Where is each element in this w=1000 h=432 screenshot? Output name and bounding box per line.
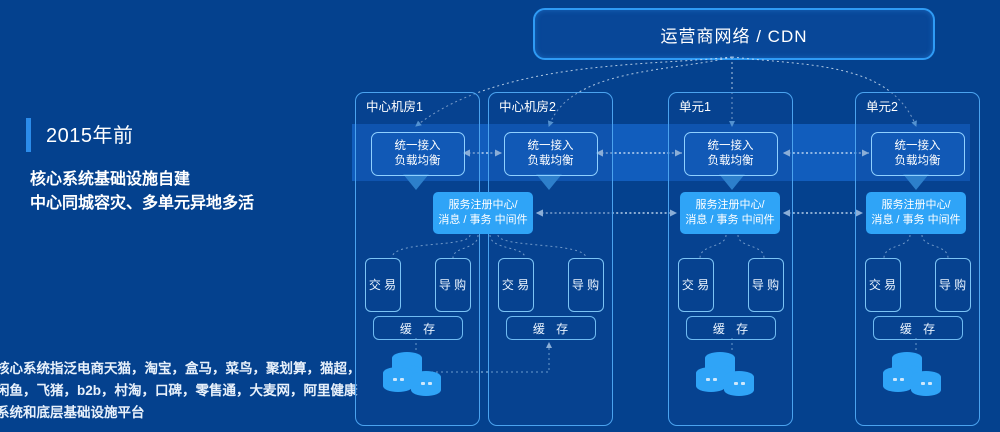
middleware-line-2: 消息 / 事务 中间件 <box>438 213 527 228</box>
lb-line-1: 统一接入 <box>708 139 754 154</box>
load-balancer-node-unit-1[interactable]: 统一接入负载均衡 <box>684 132 778 176</box>
app-node-center-idc-1-1[interactable]: 导 购 <box>435 258 471 312</box>
middleware-line-1: 服务注册中心/ <box>448 198 517 213</box>
headline-line-1: 核心系统基础设施自建 <box>30 168 254 192</box>
lb-line-1: 统一接入 <box>395 139 441 154</box>
middleware-line-2: 消息 / 事务 中间件 <box>871 213 960 228</box>
database-cluster-icon-center-idc-1 <box>381 348 453 398</box>
lb-line-2: 负载均衡 <box>708 154 754 169</box>
cdn-node[interactable]: 运营商网络 / CDN <box>533 8 935 60</box>
column-title-unit-2: 单元2 <box>866 96 898 115</box>
cache-node-center-idc-1[interactable]: 缓 存 <box>373 316 463 340</box>
middleware-line-2: 消息 / 事务 中间件 <box>685 213 774 228</box>
load-balancer-node-center-idc-1[interactable]: 统一接入负载均衡 <box>371 132 465 176</box>
diagram-canvas: 2015年前 核心系统基础设施自建 中心同城容灾、多单元异地多活 核心系统指泛电… <box>0 0 1000 432</box>
middleware-node-mw-unit-2[interactable]: 服务注册中心/消息 / 事务 中间件 <box>866 192 966 234</box>
column-title-center-idc-2: 中心机房2 <box>499 96 556 115</box>
lb-line-1: 统一接入 <box>895 139 941 154</box>
load-balancer-node-center-idc-2[interactable]: 统一接入负载均衡 <box>504 132 598 176</box>
headline-line-2: 中心同城容灾、多单元异地多活 <box>30 192 254 216</box>
footnote-line-3: 系统和底层基础设施平台 <box>0 402 361 424</box>
column-title-unit-1: 单元1 <box>679 96 711 115</box>
app-node-center-idc-1-0[interactable]: 交 易 <box>365 258 401 312</box>
cache-node-unit-1[interactable]: 缓 存 <box>686 316 776 340</box>
middleware-node-mw-unit-1[interactable]: 服务注册中心/消息 / 事务 中间件 <box>680 192 780 234</box>
app-node-unit-1-0[interactable]: 交 易 <box>678 258 714 312</box>
database-cluster-icon-unit-1 <box>694 348 766 398</box>
app-node-unit-2-1[interactable]: 导 购 <box>935 258 971 312</box>
app-node-unit-1-1[interactable]: 导 购 <box>748 258 784 312</box>
app-node-unit-2-0[interactable]: 交 易 <box>865 258 901 312</box>
cache-node-unit-2[interactable]: 缓 存 <box>873 316 963 340</box>
lb-line-2: 负载均衡 <box>528 154 574 169</box>
middleware-line-1: 服务注册中心/ <box>881 198 950 213</box>
app-node-center-idc-2-1[interactable]: 导 购 <box>568 258 604 312</box>
footnote-line-1: 核心系统指泛电商天猫，淘宝，盒马，菜鸟，聚划算，猫超， <box>0 358 361 380</box>
middleware-line-1: 服务注册中心/ <box>695 198 764 213</box>
app-node-center-idc-2-0[interactable]: 交 易 <box>498 258 534 312</box>
lb-line-2: 负载均衡 <box>895 154 941 169</box>
footnote: 核心系统指泛电商天猫，淘宝，盒马，菜鸟，聚划算，猫超， 闲鱼，飞猪，b2b，村淘… <box>0 358 361 424</box>
column-title-center-idc-1: 中心机房1 <box>366 96 423 115</box>
cache-node-center-idc-2[interactable]: 缓 存 <box>506 316 596 340</box>
middleware-node-mw-center[interactable]: 服务注册中心/消息 / 事务 中间件 <box>433 192 533 234</box>
lb-line-1: 统一接入 <box>528 139 574 154</box>
footnote-line-2: 闲鱼，飞猪，b2b，村淘，口碑，零售通，大麦网，阿里健康 <box>0 380 361 402</box>
headline: 核心系统基础设施自建 中心同城容灾、多单元异地多活 <box>30 168 254 216</box>
lb-line-2: 负载均衡 <box>395 154 441 169</box>
database-cluster-icon-unit-2 <box>881 348 953 398</box>
load-balancer-node-unit-2[interactable]: 统一接入负载均衡 <box>871 132 965 176</box>
accent-bar <box>26 118 31 152</box>
era-title: 2015年前 <box>46 119 134 148</box>
